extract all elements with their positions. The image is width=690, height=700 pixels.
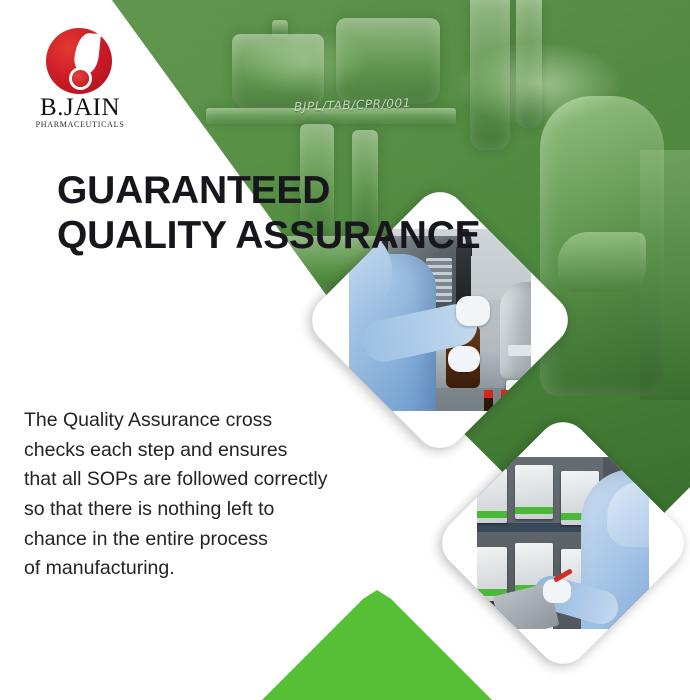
body-line: so that there is nothing left to (24, 495, 364, 525)
page-title: GUARANTEED QUALITY ASSURANCE (57, 168, 377, 258)
body-line: that all SOPs are followed correctly (24, 465, 364, 495)
machine-bowl-left (232, 34, 324, 108)
headline-line-2: QUALITY ASSURANCE (57, 213, 377, 258)
quality-assurance-poster: BJPL/TAB/CPR/001 (0, 0, 690, 700)
body-line: chance in the entire process (24, 525, 364, 555)
body-copy: The Quality Assurance cross checks each … (24, 406, 364, 584)
brand-tagline: PHARMACEUTICALS (20, 120, 140, 129)
flame-dot (72, 70, 89, 87)
flame-shape (73, 32, 101, 74)
carton-label-band (515, 507, 553, 514)
machine-tube-left (470, 0, 510, 150)
background-operator (540, 96, 664, 396)
steel-canister (500, 282, 531, 378)
carton-label-band (477, 511, 507, 518)
body-line: The Quality Assurance cross (24, 406, 364, 436)
green-triangle-accent (262, 590, 492, 700)
stock-carton (477, 625, 507, 629)
stock-carton (477, 469, 507, 523)
warehouse-glove (543, 579, 571, 603)
brand-name: B.JAIN (20, 94, 140, 122)
lab-glove-upper (456, 296, 490, 326)
machine-bowl-right (336, 18, 440, 104)
stock-carton (477, 547, 507, 601)
body-line: checks each step and ensures (24, 436, 364, 466)
headline-line-1: GUARANTEED (57, 168, 377, 213)
stock-carton (515, 465, 553, 519)
body-line: of manufacturing. (24, 554, 364, 584)
brand-logo: B.JAIN PHARMACEUTICALS (20, 28, 140, 136)
flame-circle-icon (46, 28, 112, 94)
machine-tube-right (516, 0, 542, 128)
diamond-photo-warehouse-inner (477, 457, 649, 629)
lab-glove-lower (448, 346, 480, 372)
warehouse-scene (477, 457, 649, 629)
